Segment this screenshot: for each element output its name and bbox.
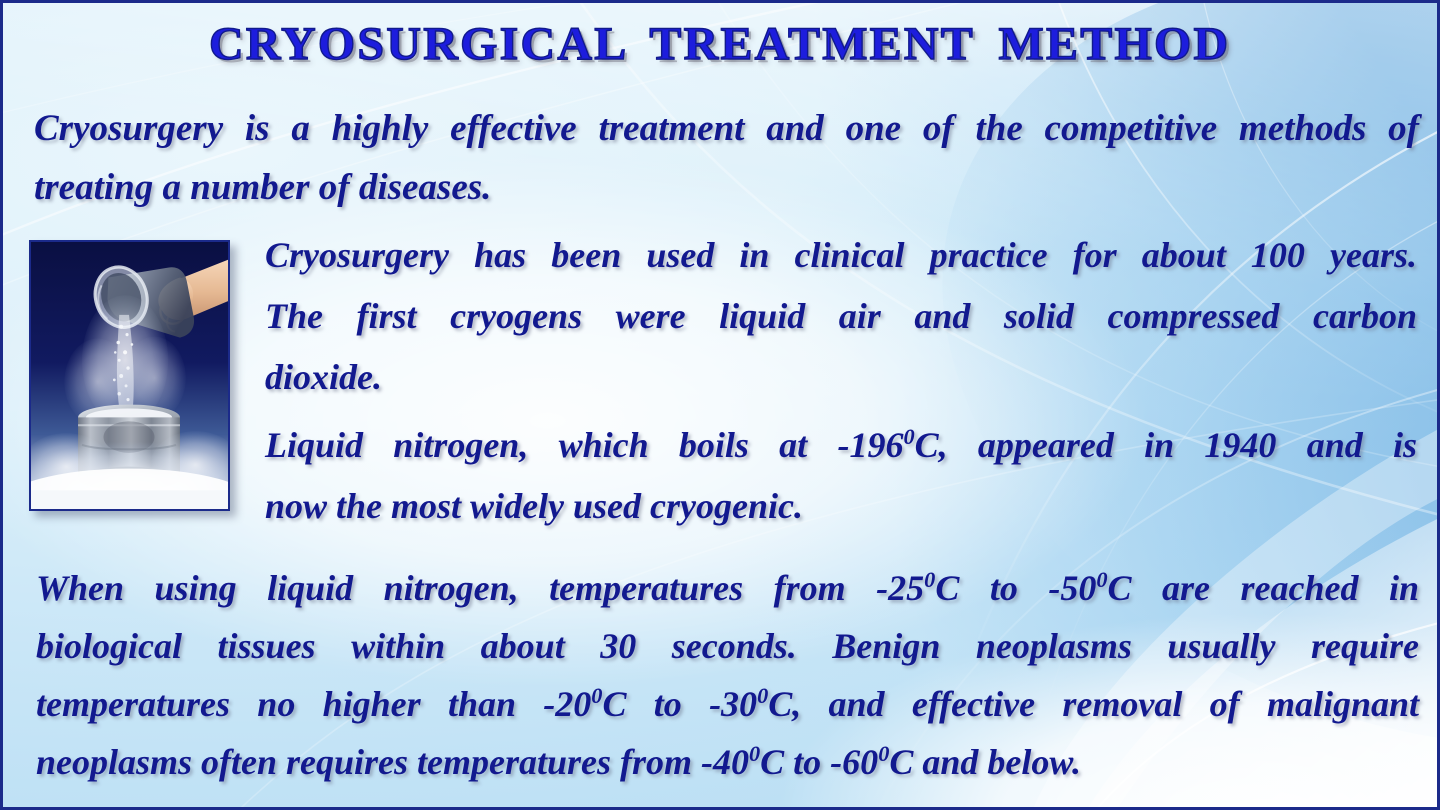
- temps-line-3-c: C, and effective removal of malignant: [768, 684, 1419, 724]
- page-title: CRYOSURGICAL TREATMENT METHOD: [209, 17, 1230, 71]
- slide-canvas: CRYOSURGICAL TREATMENT METHOD Cryosurger…: [0, 0, 1440, 810]
- history-line-1: Cryosurgery has been used in clinical pr…: [265, 225, 1417, 286]
- temps-line-4: neoplasms often requires temperatures fr…: [36, 733, 1419, 791]
- paragraph-intro: Cryosurgery is a highly effective treatm…: [34, 99, 1419, 217]
- temps-line-1-a: When using liquid nitrogen, temperatures…: [36, 568, 924, 608]
- paragraph-history: Cryosurgery has been used in clinical pr…: [265, 225, 1417, 408]
- degree-superscript: 0: [757, 683, 768, 708]
- temps-line-1-c: C are reached in: [1107, 568, 1419, 608]
- temps-line-1-b: C to -50: [935, 568, 1096, 608]
- nitrogen-line-1-b: C, appeared in 1940 and is: [915, 425, 1417, 465]
- degree-superscript: 0: [924, 567, 935, 592]
- degree-superscript: 0: [903, 424, 914, 449]
- liquid-nitrogen-photo: [29, 240, 230, 511]
- temps-line-3-a: temperatures no higher than -20: [36, 684, 591, 724]
- paragraph-temperatures: When using liquid nitrogen, temperatures…: [36, 559, 1419, 791]
- temps-line-3-b: C to -30: [602, 684, 757, 724]
- degree-superscript: 0: [1096, 567, 1107, 592]
- paragraph-nitrogen: Liquid nitrogen, which boils at -1960C, …: [265, 415, 1417, 537]
- temps-line-1: When using liquid nitrogen, temperatures…: [36, 559, 1419, 617]
- degree-superscript: 0: [749, 741, 760, 766]
- history-line-2: The first cryogens were liquid air and s…: [265, 286, 1417, 347]
- intro-line-2: treating a number of diseases.: [34, 158, 1419, 217]
- liquid-nitrogen-photo-illustration: [31, 242, 228, 509]
- nitrogen-line-1: Liquid nitrogen, which boils at -1960C, …: [265, 415, 1417, 476]
- title-container: CRYOSURGICAL TREATMENT METHOD: [3, 17, 1437, 71]
- history-line-3: dioxide.: [265, 347, 1417, 408]
- nitrogen-line-1-a: Liquid nitrogen, which boils at -196: [265, 425, 903, 465]
- temps-line-4-b: C to -60: [760, 742, 878, 782]
- degree-superscript: 0: [591, 683, 602, 708]
- temps-line-3: temperatures no higher than -200C to -30…: [36, 675, 1419, 733]
- intro-line-1: Cryosurgery is a highly effective treatm…: [34, 99, 1419, 158]
- temps-line-2: biological tissues within about 30 secon…: [36, 617, 1419, 675]
- degree-superscript: 0: [878, 741, 889, 766]
- nitrogen-line-2: now the most widely used cryogenic.: [265, 476, 1417, 537]
- temps-line-4-a: neoplasms often requires temperatures fr…: [36, 742, 749, 782]
- temps-line-4-c: C and below.: [889, 742, 1081, 782]
